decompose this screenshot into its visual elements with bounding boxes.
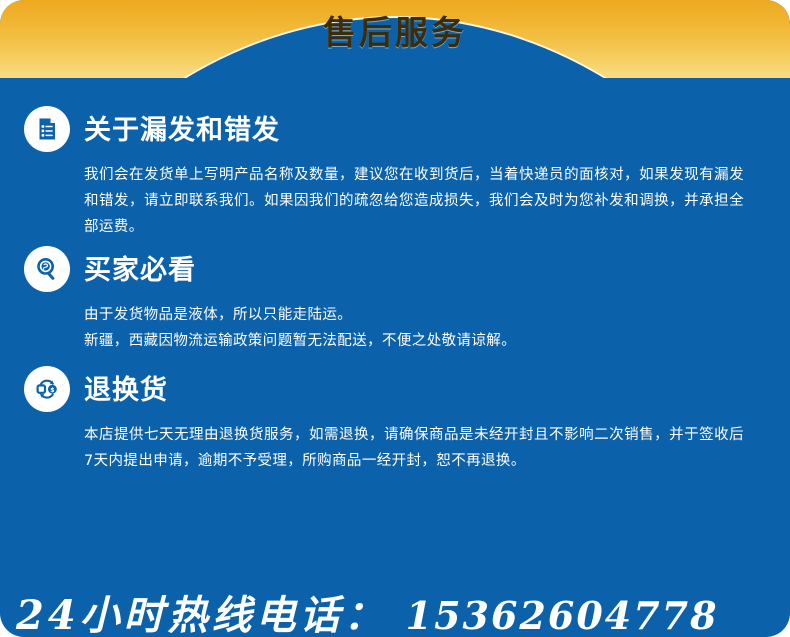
section-header: 关于漏发和错发 bbox=[0, 106, 790, 156]
after-sales-service-card: 售后服务 关于漏发和错发 bbox=[0, 0, 790, 637]
hotline-banner: 24小时热线电话：15362604778 bbox=[0, 583, 790, 637]
section-title: 买家必看 bbox=[84, 248, 196, 287]
svg-text:$: $ bbox=[50, 387, 54, 394]
exchange-refund-icon: $ bbox=[24, 366, 70, 412]
section-body: 本店提供七天无理由退换货服务，如需退换，请确保商品是未经开封且不影响二次销售，并… bbox=[0, 422, 790, 474]
magnifier-icon bbox=[24, 246, 70, 292]
page-title: 售后服务 bbox=[0, 6, 790, 54]
header-band: 售后服务 bbox=[0, 0, 790, 78]
section-header: $ 退换货 bbox=[0, 366, 790, 416]
hotline-label: 24小时热线电话： bbox=[16, 592, 388, 637]
section-body: 由于发货物品是液体，所以只能走陆运。 新疆，西藏因物流运输政策问题暂无法配送，不… bbox=[0, 302, 790, 354]
document-list-icon bbox=[24, 106, 70, 152]
section-title: 退换货 bbox=[84, 368, 168, 407]
body-line: 本店提供七天无理由退换货服务，如需退换，请确保商品是未经开封且不影响二次销售，并… bbox=[84, 422, 744, 474]
section-return-exchange: $ 退换货 本店提供七天无理由退换货服务，如需退换，请确保商品是未经开封且不影响… bbox=[0, 366, 790, 474]
section-missing-wrong-shipment: 关于漏发和错发 我们会在发货单上写明产品名称及数量，建议您在收到货后，当着快递员… bbox=[0, 106, 790, 240]
body-line: 由于发货物品是液体，所以只能走陆运。 bbox=[84, 302, 744, 328]
section-header: 买家必看 bbox=[0, 246, 790, 296]
body-area: 关于漏发和错发 我们会在发货单上写明产品名称及数量，建议您在收到货后，当着快递员… bbox=[0, 78, 790, 637]
section-body: 我们会在发货单上写明产品名称及数量，建议您在收到货后，当着快递员的面核对，如果发… bbox=[0, 162, 790, 240]
hotline-number: 15362604778 bbox=[406, 593, 719, 637]
section-title: 关于漏发和错发 bbox=[84, 108, 280, 147]
body-line: 我们会在发货单上写明产品名称及数量，建议您在收到货后，当着快递员的面核对，如果发… bbox=[84, 162, 744, 240]
body-line: 新疆，西藏因物流运输政策问题暂无法配送，不便之处敬请谅解。 bbox=[84, 328, 744, 354]
section-buyer-must-read: 买家必看 由于发货物品是液体，所以只能走陆运。 新疆，西藏因物流运输政策问题暂无… bbox=[0, 246, 790, 354]
